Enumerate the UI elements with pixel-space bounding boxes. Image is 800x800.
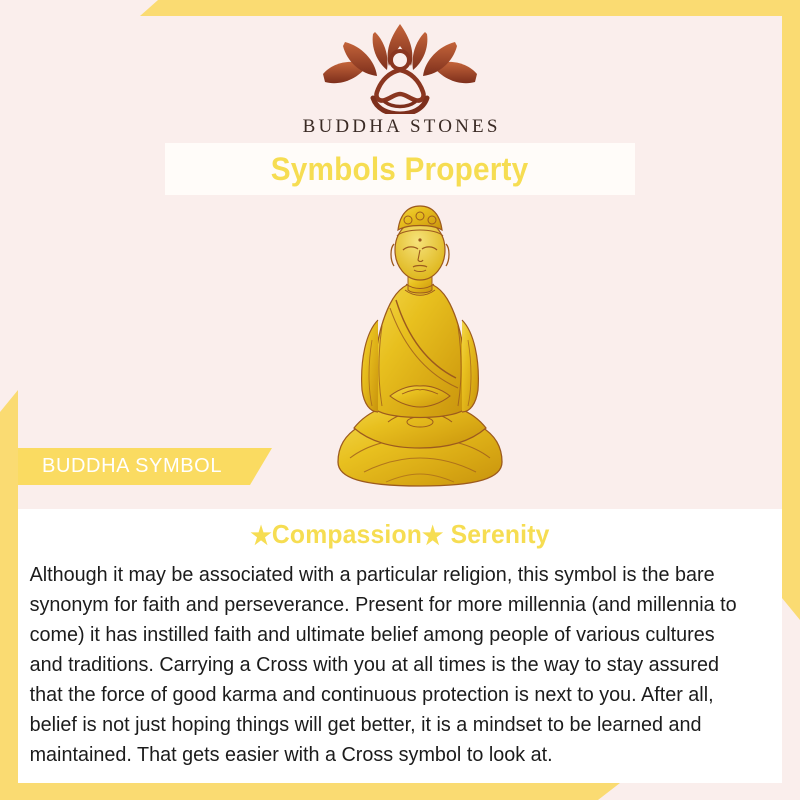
golden-seated-buddha-image <box>328 200 512 492</box>
headline-word-serenity: Serenity <box>444 519 550 549</box>
section-tag-buddha-symbol: BUDDHA SYMBOL <box>18 448 272 485</box>
content-headline: ★Compassion★ Serenity <box>37 509 763 551</box>
content-body-text: Although it may be associated with a par… <box>18 551 755 770</box>
content-panel: ★Compassion★ Serenity Although it may be… <box>18 509 782 783</box>
star-icon-2: ★ <box>422 522 443 550</box>
poster-canvas: BUDDHA STONES Symbols Property <box>0 0 800 800</box>
title-banner: Symbols Property <box>165 143 635 195</box>
decorative-ribbon-bottom <box>0 783 620 800</box>
page-title: Symbols Property <box>271 151 529 188</box>
brand-logo-block: BUDDHA STONES <box>0 22 800 138</box>
decorative-ribbon-top <box>140 0 800 16</box>
headline-word-compassion: Compassion <box>272 519 422 549</box>
star-icon-1: ★ <box>250 522 271 550</box>
decorative-ribbon-left <box>0 390 18 800</box>
lotus-meditation-figure-icon <box>315 22 485 114</box>
brand-wordmark: BUDDHA STONES <box>0 116 800 138</box>
section-tag-label: BUDDHA SYMBOL <box>18 455 222 478</box>
